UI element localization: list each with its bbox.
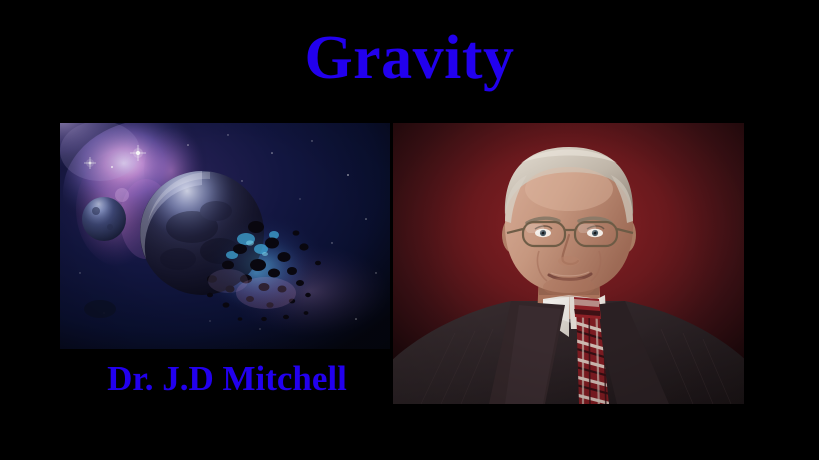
portrait-photo xyxy=(393,123,744,404)
portrait-photo-canvas xyxy=(393,123,744,404)
space-illustration-canvas xyxy=(60,123,390,349)
space-illustration xyxy=(60,123,390,349)
page-title: Gravity xyxy=(0,24,819,92)
title-slide: Gravity xyxy=(0,0,819,460)
presenter-name: Dr. J.D Mitchell xyxy=(62,358,392,400)
